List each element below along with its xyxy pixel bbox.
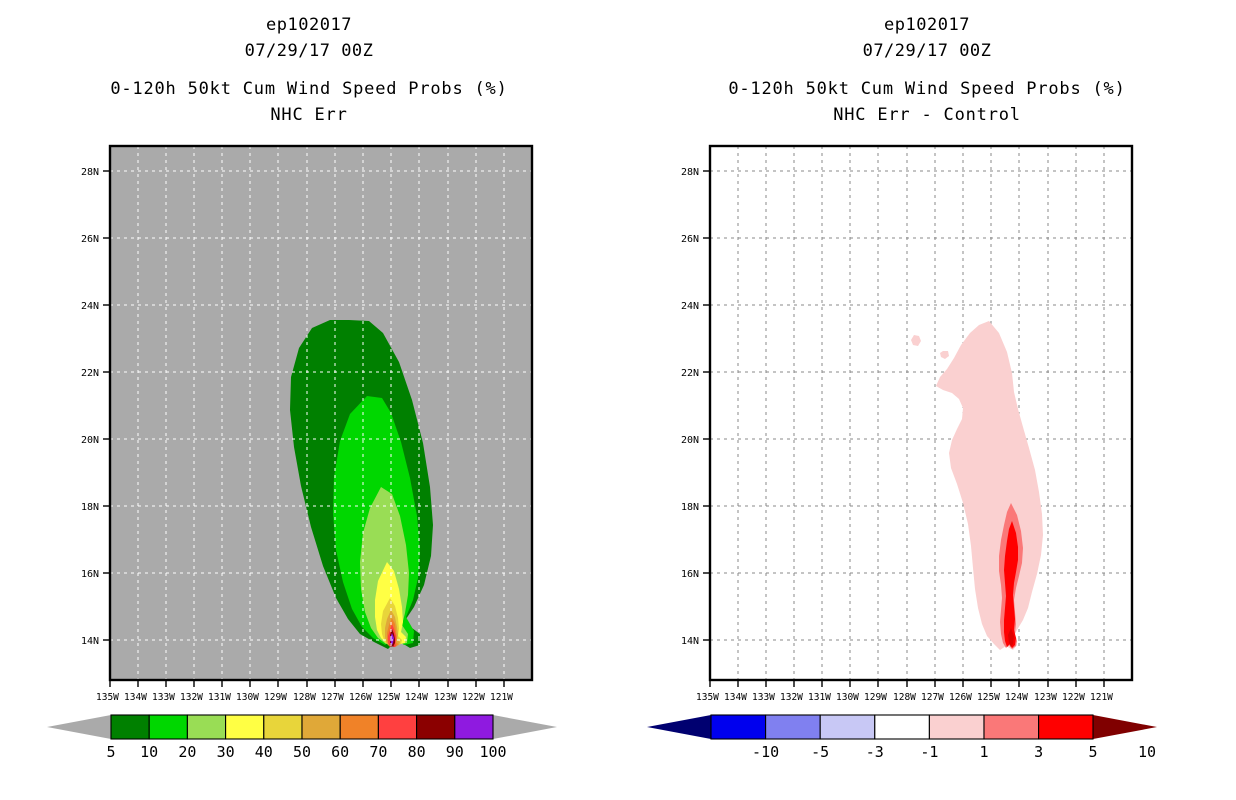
colorbar-tick-1: 1 <box>979 743 988 761</box>
map-background-right <box>710 146 1132 680</box>
colorbar-tick-90: 90 <box>446 743 464 761</box>
colorbar-tick-60: 60 <box>331 743 349 761</box>
colorbar-tick-100: 100 <box>479 743 506 761</box>
x-tick-127w: 127W <box>321 692 344 703</box>
y-tick-16n: 16N <box>681 569 699 580</box>
x-tick-123w: 123W <box>434 692 457 703</box>
x-tick-122w: 122W <box>1062 692 1085 703</box>
colorbar-seg-70-80 <box>378 715 416 739</box>
colorbar-high-cap <box>1093 715 1157 739</box>
x-tick-131w: 131W <box>808 692 831 703</box>
x-tick-128w: 128W <box>893 692 916 703</box>
colorbar-seg-neg10-neg5 <box>711 715 766 739</box>
y-tick-26n: 26N <box>681 234 699 245</box>
colorbar-tick-neg3: -3 <box>866 743 884 761</box>
x-tick-134w: 134W <box>724 692 747 703</box>
colorbar-seg-1-3 <box>929 715 984 739</box>
x-axis-right: 135W 134W 133W 132W 131W 130W 129W 128W … <box>696 680 1113 703</box>
x-tick-125w: 125W <box>377 692 400 703</box>
colorbar-seg-30-40 <box>226 715 264 739</box>
colorbar-seg-neg3-neg1 <box>820 715 875 739</box>
colorbar-seg-10-20 <box>149 715 187 739</box>
colorbar-tick-neg10: -10 <box>752 743 779 761</box>
y-tick-24n: 24N <box>681 301 699 312</box>
y-axis-left: 28N 26N 24N 22N 20N 18N 16N 14N <box>81 167 110 647</box>
colorbar-seg-5-10 <box>111 715 149 739</box>
colorbar-low-cap <box>647 715 711 739</box>
figure-root: ep102017 07/29/17 00Z 0-120h 50kt Cum Wi… <box>0 0 1236 800</box>
x-tick-131w: 131W <box>208 692 231 703</box>
x-tick-124w: 124W <box>1005 692 1028 703</box>
colorbar-seg-80-90 <box>417 715 455 739</box>
plot-area-right: 28N 26N 24N 22N 20N 18N 16N 14N <box>618 0 1236 800</box>
colorbar-seg-90-100 <box>455 715 493 739</box>
x-axis-left: 135W 134W 133W 132W 131W 130W 129W 128W … <box>96 680 513 703</box>
x-tick-129w: 129W <box>864 692 887 703</box>
y-tick-22n: 22N <box>81 368 99 379</box>
y-tick-18n: 18N <box>81 502 99 513</box>
colorbar-seg-50-60 <box>302 715 340 739</box>
colorbar-left: 5 10 20 30 40 50 60 70 80 90 100 <box>47 715 557 761</box>
colorbar-seg-neg5-neg3 <box>766 715 821 739</box>
x-tick-134w: 134W <box>124 692 147 703</box>
colorbar-seg-3-5 <box>984 715 1039 739</box>
x-tick-121w: 121W <box>490 692 513 703</box>
y-tick-26n: 26N <box>81 234 99 245</box>
colorbar-tick-10: 10 <box>1138 743 1156 761</box>
x-tick-127w: 127W <box>921 692 944 703</box>
x-tick-133w: 133W <box>152 692 175 703</box>
colorbar-tick-neg1: -1 <box>920 743 938 761</box>
x-tick-129w: 129W <box>264 692 287 703</box>
x-tick-122w: 122W <box>462 692 485 703</box>
panel-nhc-err-minus-control: ep102017 07/29/17 00Z 0-120h 50kt Cum Wi… <box>618 0 1236 800</box>
y-axis-right: 28N 26N 24N 22N 20N 18N 16N 14N <box>681 167 710 647</box>
colorbar-tick-10: 10 <box>140 743 158 761</box>
plot-area-left: 28N 26N 24N 22N 20N 18N 16N 14N <box>0 0 618 800</box>
colorbar-tick-30: 30 <box>217 743 235 761</box>
colorbar-tick-3: 3 <box>1034 743 1043 761</box>
y-tick-18n: 18N <box>681 502 699 513</box>
x-tick-132w: 132W <box>180 692 203 703</box>
colorbar-seg-neg1-1 <box>875 715 930 739</box>
x-tick-133w: 133W <box>752 692 775 703</box>
x-tick-135w: 135W <box>696 692 719 703</box>
colorbar-right: -10 -5 -3 -1 1 3 5 10 <box>647 715 1157 761</box>
y-tick-28n: 28N <box>81 167 99 178</box>
colorbar-low-cap <box>47 715 111 739</box>
y-tick-20n: 20N <box>681 435 699 446</box>
x-tick-130w: 130W <box>836 692 859 703</box>
x-tick-121w: 121W <box>1090 692 1113 703</box>
colorbar-tick-80: 80 <box>408 743 426 761</box>
panel-nhc-err: ep102017 07/29/17 00Z 0-120h 50kt Cum Wi… <box>0 0 618 800</box>
x-tick-132w: 132W <box>780 692 803 703</box>
x-tick-124w: 124W <box>405 692 428 703</box>
colorbar-tick-neg5: -5 <box>811 743 829 761</box>
x-tick-125w: 125W <box>977 692 1000 703</box>
colorbar-seg-40-50 <box>264 715 302 739</box>
colorbar-tick-5: 5 <box>106 743 115 761</box>
y-tick-14n: 14N <box>681 636 699 647</box>
x-tick-128w: 128W <box>293 692 316 703</box>
colorbar-tick-20: 20 <box>178 743 196 761</box>
colorbar-tick-70: 70 <box>369 743 387 761</box>
y-tick-28n: 28N <box>681 167 699 178</box>
colorbar-high-cap <box>493 715 557 739</box>
x-tick-130w: 130W <box>236 692 259 703</box>
colorbar-tick-40: 40 <box>255 743 273 761</box>
colorbar-seg-60-70 <box>340 715 378 739</box>
colorbar-seg-20-30 <box>187 715 225 739</box>
y-tick-14n: 14N <box>81 636 99 647</box>
x-tick-126w: 126W <box>949 692 972 703</box>
map-svg-right: 28N 26N 24N 22N 20N 18N 16N 14N <box>618 0 1236 800</box>
y-tick-24n: 24N <box>81 301 99 312</box>
x-tick-135w: 135W <box>96 692 119 703</box>
colorbar-tick-50: 50 <box>293 743 311 761</box>
colorbar-seg-5-10 <box>1039 715 1093 739</box>
y-tick-20n: 20N <box>81 435 99 446</box>
map-svg-left: 28N 26N 24N 22N 20N 18N 16N 14N <box>0 0 618 800</box>
y-tick-16n: 16N <box>81 569 99 580</box>
x-tick-123w: 123W <box>1034 692 1057 703</box>
colorbar-tick-5: 5 <box>1088 743 1097 761</box>
y-tick-22n: 22N <box>681 368 699 379</box>
x-tick-126w: 126W <box>349 692 372 703</box>
